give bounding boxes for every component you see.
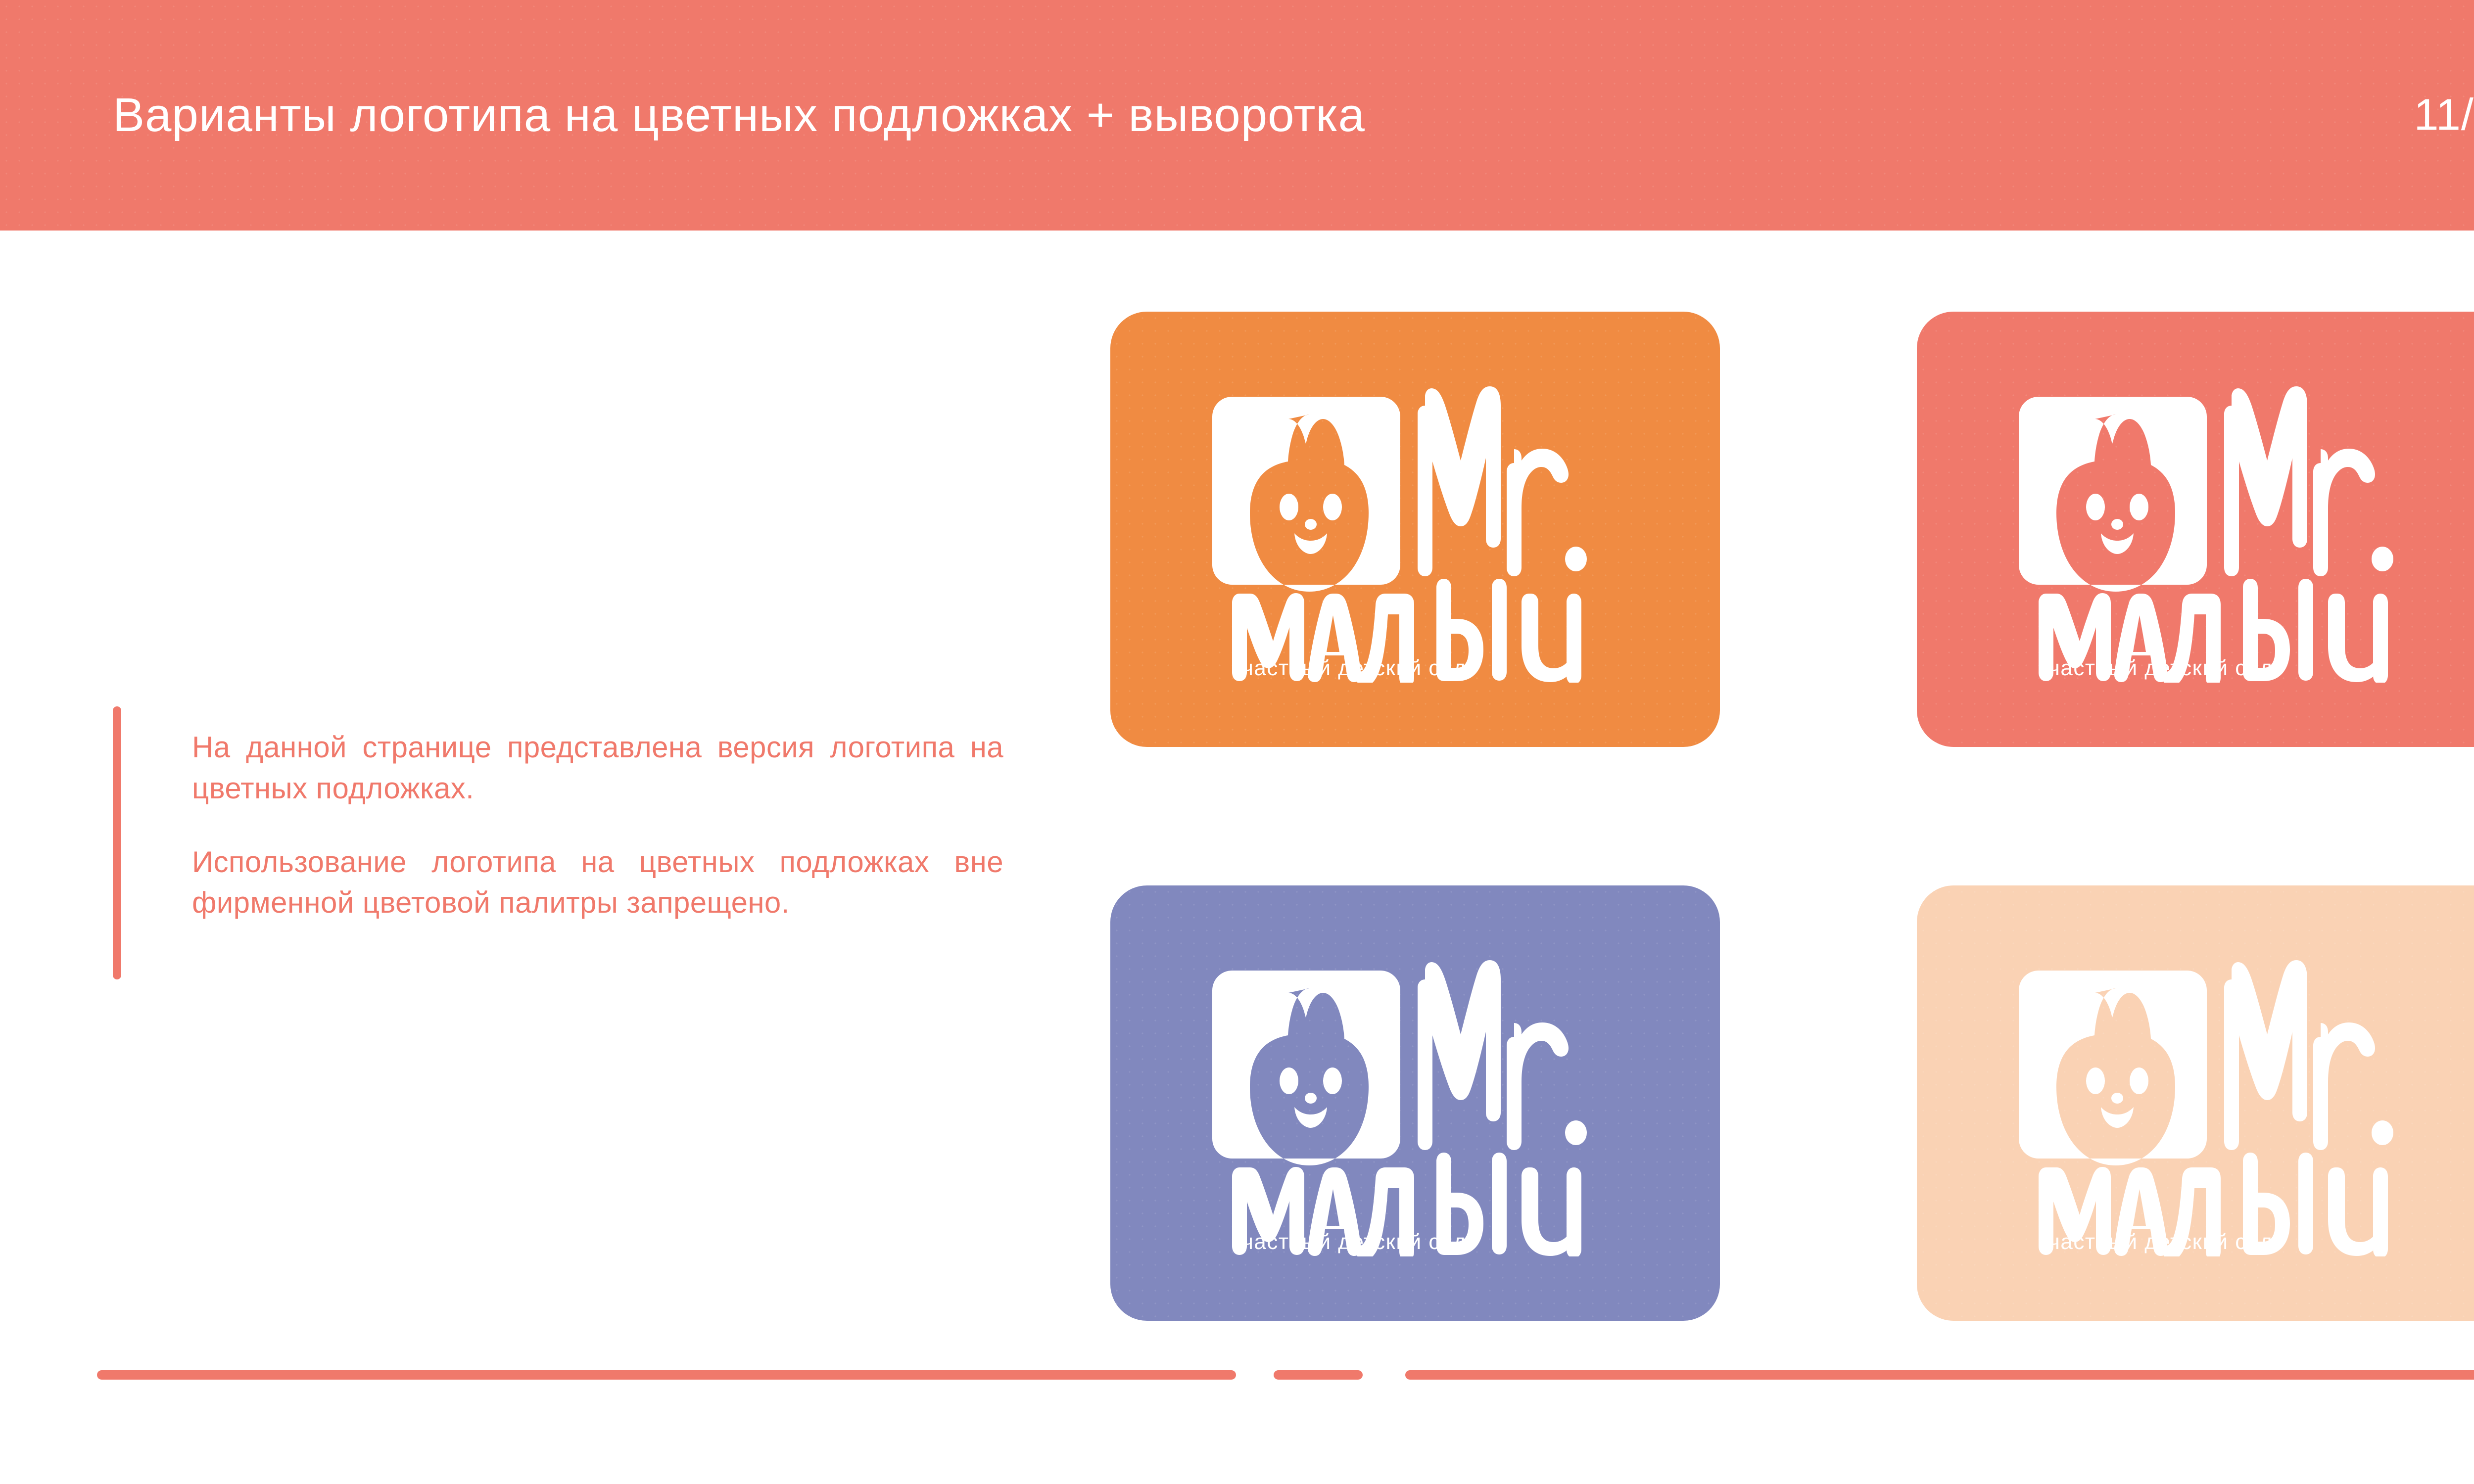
note-accent-bar xyxy=(113,706,121,979)
cat-smile xyxy=(2101,533,2134,554)
cat-right-eye xyxy=(2130,1067,2148,1094)
brand-prefix-mr xyxy=(1418,960,1587,1150)
cat-right-eye xyxy=(1323,494,1342,520)
cat-smile xyxy=(2101,1107,2134,1128)
page-number: 11/32 xyxy=(2414,90,2474,141)
brand-prefix-mr xyxy=(2224,960,2393,1150)
brand-prefix-mr xyxy=(1418,386,1587,576)
cat-mark-icon xyxy=(1212,971,1400,1165)
note-copy-block: На данной странице представлена версия л… xyxy=(192,727,1003,924)
cat-nose xyxy=(2111,519,2123,530)
logo-lockup: частный детский сад xyxy=(1212,376,1618,683)
cat-left-eye xyxy=(1280,494,1298,520)
cat-mark-icon xyxy=(1212,397,1400,592)
cat-left-eye xyxy=(2086,1067,2105,1094)
cat-nose xyxy=(1305,519,1317,530)
cat-left-eye xyxy=(1280,1067,1298,1094)
cat-left-eye xyxy=(2086,494,2105,520)
logo-lockup: частный детский сад xyxy=(1212,950,1618,1256)
brand-tagline: частный детский сад xyxy=(1242,1230,1467,1254)
brand-tagline: частный детский сад xyxy=(2048,656,2273,680)
logo-card-peach: частный детский сад xyxy=(1917,885,2474,1321)
footer-rule-right xyxy=(1405,1370,2474,1380)
brand-prefix-mr xyxy=(2224,386,2393,576)
logo-card-orange: частный детский сад xyxy=(1110,312,1720,747)
page-title: Варианты логотипа на цветных подложках +… xyxy=(113,88,1365,142)
logo-card-coral: частный детский сад xyxy=(1917,312,2474,747)
logo-lockup: частный детский сад xyxy=(2019,950,2425,1256)
cat-nose xyxy=(2111,1093,2123,1104)
cat-right-eye xyxy=(2130,494,2148,520)
cat-nose xyxy=(1305,1093,1317,1104)
cat-smile xyxy=(1294,1107,1327,1128)
cat-mark-icon xyxy=(2019,397,2207,592)
note-paragraph-1: На данной странице представлена версия л… xyxy=(192,727,1003,809)
footer-rule-left xyxy=(97,1370,1236,1380)
cat-smile xyxy=(1294,533,1327,554)
logo-card-grid: частный детский сад xyxy=(1110,312,2474,1321)
brand-tagline: частный детский сад xyxy=(2048,1230,2273,1254)
logo-card-periwinkle: частный детский сад xyxy=(1110,885,1720,1321)
logo-lockup: частный детский сад xyxy=(2019,376,2425,683)
footer-rule-dash xyxy=(1274,1370,1363,1380)
brand-tagline: частный детский сад xyxy=(1242,656,1467,680)
cat-right-eye xyxy=(1323,1067,1342,1094)
cat-mark-icon xyxy=(2019,971,2207,1165)
note-paragraph-2: Использование логотипа на цветных подлож… xyxy=(192,842,1003,924)
slide-header: Варианты логотипа на цветных подложках +… xyxy=(0,0,2474,231)
